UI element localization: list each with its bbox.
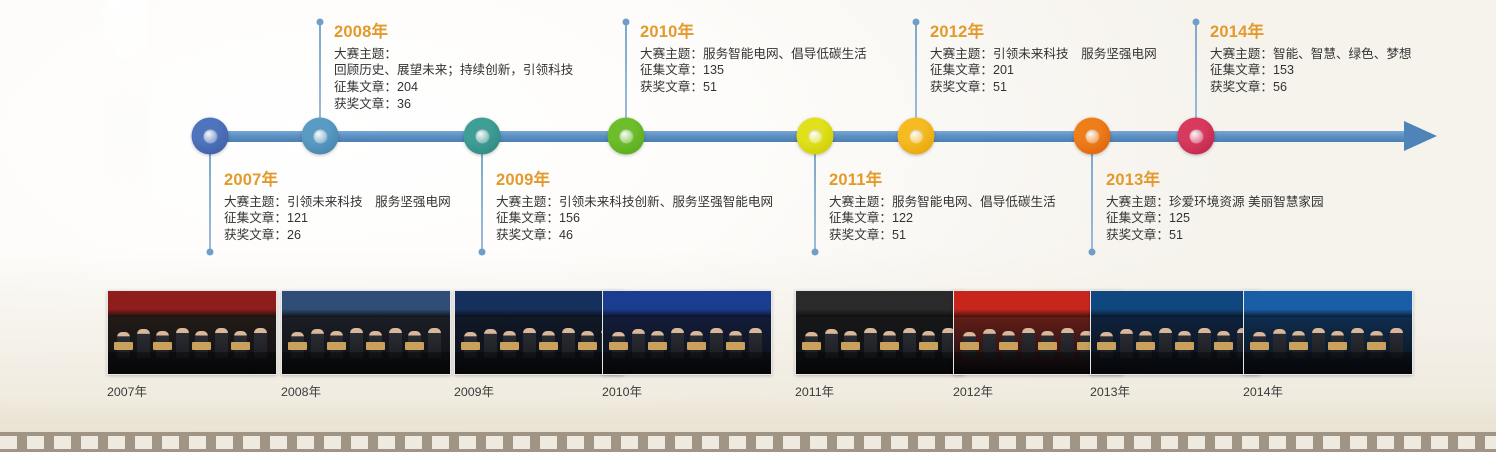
- connector-stem: [209, 148, 211, 252]
- infographic-canvas: 2007年大赛主题：引领未来科技 服务坚强电网征集文章：121获奖文章：2620…: [0, 0, 1496, 452]
- photo-stage: [108, 352, 276, 374]
- gallery-photo-2011[interactable]: [795, 290, 965, 375]
- callout-awarded: 获奖文章：36: [334, 96, 573, 113]
- callout-theme: 大赛主题：服务智能电网、倡导低碳生活: [640, 46, 867, 63]
- photo-banner: [1244, 291, 1412, 317]
- photo-certificate: [153, 342, 172, 350]
- callout-awarded: 获奖文章：51: [930, 79, 1157, 96]
- gallery-photo-2009[interactable]: [454, 290, 624, 375]
- connector-stem: [319, 22, 321, 124]
- callout-theme: 大赛主题：珍爱环境资源 美丽智慧家园: [1106, 194, 1324, 211]
- connector-stem: [625, 22, 627, 124]
- callout-year: 2007年: [224, 170, 451, 192]
- gallery-photo-2013[interactable]: [1090, 290, 1260, 375]
- photo-certificate: [999, 342, 1018, 350]
- callout-submitted: 征集文章：153: [1210, 62, 1412, 79]
- connector-dot: [207, 249, 214, 256]
- gallery-item[interactable]: 2013年: [1090, 290, 1260, 400]
- photo-certificate: [1097, 342, 1116, 350]
- photo-stage: [603, 352, 771, 374]
- callout-awarded: 获奖文章：26: [224, 227, 451, 244]
- photo-banner: [1091, 291, 1259, 317]
- photo-certificate: [114, 342, 133, 350]
- callout-year: 2009年: [496, 170, 773, 192]
- callout-2010: 2010年大赛主题：服务智能电网、倡导低碳生活征集文章：135获奖文章：51: [640, 22, 867, 96]
- callout-submitted: 征集文章：122: [829, 210, 1056, 227]
- callout-year: 2013年: [1106, 170, 1324, 192]
- gallery-item[interactable]: 2008年: [281, 290, 451, 400]
- photo-certificate: [192, 342, 211, 350]
- connector-stem: [814, 148, 816, 252]
- photo-banner: [282, 291, 450, 317]
- callout-theme: 大赛主题：引领未来科技 服务坚强电网: [224, 194, 451, 211]
- photo-stage: [455, 352, 623, 374]
- connector-stem: [915, 22, 917, 124]
- connector-stem: [1091, 148, 1093, 252]
- callout-submitted: 征集文章：156: [496, 210, 773, 227]
- connector-stem: [1195, 22, 1197, 124]
- callout-2011: 2011年大赛主题：服务智能电网、倡导低碳生活征集文章：122获奖文章：51: [829, 170, 1056, 244]
- photo-certificate: [1250, 342, 1269, 350]
- timeline-arrow-icon: [1404, 121, 1437, 151]
- photo-certificate: [1136, 342, 1155, 350]
- callout-year: 2008年: [334, 22, 573, 44]
- callout-awarded: 获奖文章：51: [640, 79, 867, 96]
- callout-theme: 回顾历史、展望未来；持续创新，引领科技: [334, 62, 573, 79]
- photo-stage: [796, 352, 964, 374]
- photo-certificate: [327, 342, 346, 350]
- callout-awarded: 获奖文章：51: [1106, 227, 1324, 244]
- callout-2009: 2009年大赛主题：引领未来科技创新、服务坚强智能电网征集文章：156获奖文章：…: [496, 170, 773, 244]
- timeline-node-2014[interactable]: [1178, 118, 1215, 155]
- photo-certificate: [960, 342, 979, 350]
- callout-2012: 2012年大赛主题：引领未来科技 服务坚强电网征集文章：201获奖文章：51: [930, 22, 1157, 96]
- gallery-item[interactable]: 2014年: [1243, 290, 1413, 400]
- callout-awarded: 获奖文章：46: [496, 227, 773, 244]
- photo-certificate: [405, 342, 424, 350]
- timeline-node-2010[interactable]: [608, 118, 645, 155]
- photo-certificate: [500, 342, 519, 350]
- connector-dot: [479, 249, 486, 256]
- photo-certificate: [919, 342, 938, 350]
- photo-certificate: [880, 342, 899, 350]
- timeline-node-2013[interactable]: [1074, 118, 1111, 155]
- connector-dot: [1089, 249, 1096, 256]
- background-light-streak: [105, 0, 147, 200]
- gallery-item[interactable]: 2010年: [602, 290, 772, 400]
- callout-year: 2012年: [930, 22, 1157, 44]
- filmstrip-fade: [0, 398, 1496, 432]
- photo-stage: [282, 352, 450, 374]
- connector-dot: [1193, 19, 1200, 26]
- timeline-node-2009[interactable]: [464, 118, 501, 155]
- photo-certificate: [578, 342, 597, 350]
- callout-submitted: 征集文章：201: [930, 62, 1157, 79]
- photo-stage: [1244, 352, 1412, 374]
- photo-stage: [1091, 352, 1259, 374]
- timeline-node-2012[interactable]: [898, 118, 935, 155]
- photo-certificate: [841, 342, 860, 350]
- timeline-node-2008[interactable]: [302, 118, 339, 155]
- photo-certificate: [539, 342, 558, 350]
- callout-submitted: 征集文章：125: [1106, 210, 1324, 227]
- callout-year: 2014年: [1210, 22, 1412, 44]
- callout-year: 2010年: [640, 22, 867, 44]
- photo-certificate: [648, 342, 667, 350]
- callout-2007: 2007年大赛主题：引领未来科技 服务坚强电网征集文章：121获奖文章：26: [224, 170, 451, 244]
- gallery-photo-2008[interactable]: [281, 290, 451, 375]
- photo-certificate: [802, 342, 821, 350]
- callout-theme: 大赛主题：引领未来科技 服务坚强电网: [930, 46, 1157, 63]
- gallery-photo-2007[interactable]: [107, 290, 277, 375]
- callout-submitted: 征集文章：204: [334, 79, 573, 96]
- callout-2013: 2013年大赛主题：珍爱环境资源 美丽智慧家园征集文章：125获奖文章：51: [1106, 170, 1324, 244]
- photo-certificate: [1289, 342, 1308, 350]
- connector-dot: [812, 249, 819, 256]
- callout-year: 2011年: [829, 170, 1056, 192]
- connector-dot: [317, 19, 324, 26]
- photo-certificate: [1328, 342, 1347, 350]
- callout-2008: 2008年大赛主题：回顾历史、展望未来；持续创新，引领科技征集文章：204获奖文…: [334, 22, 573, 112]
- photo-banner: [455, 291, 623, 317]
- gallery-item[interactable]: 2011年: [795, 290, 965, 400]
- photo-certificate: [366, 342, 385, 350]
- photo-certificate: [726, 342, 745, 350]
- photo-certificate: [461, 342, 480, 350]
- filmstrip-border: [0, 432, 1496, 452]
- callout-theme: 大赛主题：引领未来科技创新、服务坚强智能电网: [496, 194, 773, 211]
- photo-certificate: [288, 342, 307, 350]
- connector-dot: [623, 19, 630, 26]
- callout-awarded: 获奖文章：51: [829, 227, 1056, 244]
- callout-submitted: 征集文章：135: [640, 62, 867, 79]
- photo-banner: [108, 291, 276, 317]
- photo-certificate: [1175, 342, 1194, 350]
- photo-certificate: [1214, 342, 1233, 350]
- gallery-photo-2014[interactable]: [1243, 290, 1413, 375]
- photo-certificate: [1367, 342, 1386, 350]
- photo-banner: [603, 291, 771, 317]
- gallery-item[interactable]: 2007年: [107, 290, 277, 400]
- timeline-node-2011[interactable]: [797, 118, 834, 155]
- photo-certificate: [609, 342, 628, 350]
- callout-theme-label: 大赛主题：: [334, 46, 573, 63]
- connector-dot: [913, 19, 920, 26]
- callout-2014: 2014年大赛主题：智能、智慧、绿色、梦想征集文章：153获奖文章：56: [1210, 22, 1412, 96]
- timeline-node-2007[interactable]: [192, 118, 229, 155]
- photo-certificate: [687, 342, 706, 350]
- photo-certificate: [231, 342, 250, 350]
- gallery-photo-2010[interactable]: [602, 290, 772, 375]
- callout-theme: 大赛主题：服务智能电网、倡导低碳生活: [829, 194, 1056, 211]
- gallery-item[interactable]: 2009年: [454, 290, 624, 400]
- callout-submitted: 征集文章：121: [224, 210, 451, 227]
- photo-banner: [796, 291, 964, 317]
- photo-certificate: [1038, 342, 1057, 350]
- connector-stem: [481, 148, 483, 252]
- filmstrip-perforations: [0, 436, 1496, 449]
- callout-awarded: 获奖文章：56: [1210, 79, 1412, 96]
- callout-theme: 大赛主题：智能、智慧、绿色、梦想: [1210, 46, 1412, 63]
